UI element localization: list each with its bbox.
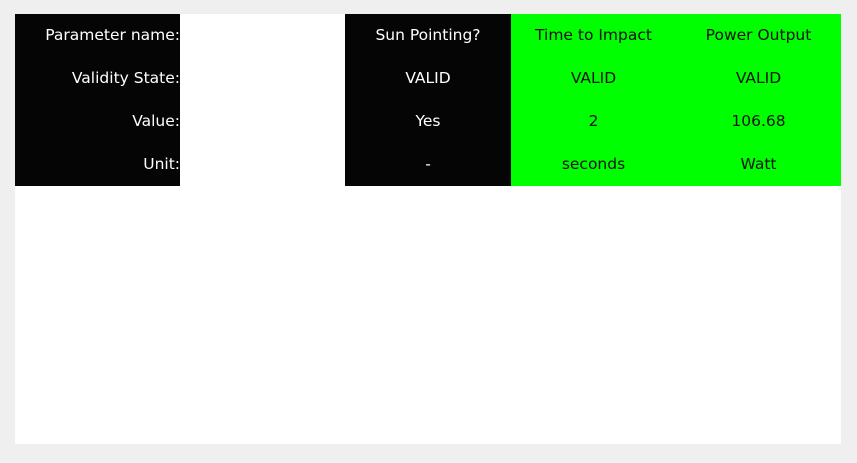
row-label-validity-state: Validity State: [15, 57, 180, 100]
empty-cell[interactable] [511, 315, 676, 358]
row-label-value: Value: [15, 100, 180, 143]
table-row-value: Value: Yes 2 106.68 [15, 100, 841, 143]
empty-cell[interactable] [180, 229, 345, 272]
cell-sun-pointing-validity[interactable]: VALID [345, 57, 511, 100]
empty-cell[interactable] [676, 272, 841, 315]
empty-cell[interactable] [676, 229, 841, 272]
cell-sun-pointing-unit[interactable]: - [345, 143, 511, 186]
empty-cell[interactable] [180, 358, 345, 401]
table-row-empty [15, 401, 841, 444]
cell-power-output-unit[interactable]: Watt [676, 143, 841, 186]
table-row-empty [15, 315, 841, 358]
cell-time-to-impact-name[interactable]: Time to Impact [511, 14, 676, 57]
table-row-empty [15, 272, 841, 315]
table-row-empty [15, 229, 841, 272]
empty-cell[interactable] [511, 229, 676, 272]
empty-cell[interactable] [180, 272, 345, 315]
empty-cell[interactable] [345, 315, 511, 358]
spacer-cell-validity-state [180, 57, 345, 100]
empty-cell[interactable] [676, 315, 841, 358]
empty-cell[interactable] [15, 186, 180, 229]
cell-time-to-impact-validity[interactable]: VALID [511, 57, 676, 100]
empty-cell[interactable] [676, 186, 841, 229]
empty-cell[interactable] [345, 186, 511, 229]
table-row-empty [15, 186, 841, 229]
empty-cell[interactable] [15, 401, 180, 444]
cell-sun-pointing-name[interactable]: Sun Pointing? [345, 14, 511, 57]
empty-cell[interactable] [511, 272, 676, 315]
empty-cell[interactable] [345, 401, 511, 444]
cell-power-output-validity[interactable]: VALID [676, 57, 841, 100]
empty-cell[interactable] [180, 186, 345, 229]
empty-cell[interactable] [676, 401, 841, 444]
empty-cell[interactable] [345, 358, 511, 401]
empty-cell[interactable] [15, 358, 180, 401]
empty-cell[interactable] [15, 229, 180, 272]
cell-power-output-name[interactable]: Power Output [676, 14, 841, 57]
spacer-cell-unit [180, 143, 345, 186]
table-row-validity-state: Validity State: VALID VALID VALID [15, 57, 841, 100]
cell-power-output-value[interactable]: 106.68 [676, 100, 841, 143]
table-row-empty [15, 358, 841, 401]
telemetry-parameter-table: Parameter name: Sun Pointing? Time to Im… [15, 14, 841, 444]
row-label-parameter-name: Parameter name: [15, 14, 180, 57]
empty-cell[interactable] [345, 229, 511, 272]
empty-cell[interactable] [345, 272, 511, 315]
empty-cell[interactable] [511, 186, 676, 229]
empty-cell[interactable] [676, 358, 841, 401]
empty-cell[interactable] [511, 401, 676, 444]
spacer-cell-value [180, 100, 345, 143]
empty-cell[interactable] [180, 315, 345, 358]
cell-sun-pointing-value[interactable]: Yes [345, 100, 511, 143]
cell-time-to-impact-value[interactable]: 2 [511, 100, 676, 143]
empty-cell[interactable] [511, 358, 676, 401]
table-body: Parameter name: Sun Pointing? Time to Im… [15, 14, 841, 444]
empty-cell[interactable] [180, 401, 345, 444]
empty-cell[interactable] [15, 272, 180, 315]
empty-cell[interactable] [15, 315, 180, 358]
spacer-cell-parameter-name [180, 14, 345, 57]
cell-time-to-impact-unit[interactable]: seconds [511, 143, 676, 186]
table-row-unit: Unit: - seconds Watt [15, 143, 841, 186]
row-label-unit: Unit: [15, 143, 180, 186]
table-row-parameter-name: Parameter name: Sun Pointing? Time to Im… [15, 14, 841, 57]
